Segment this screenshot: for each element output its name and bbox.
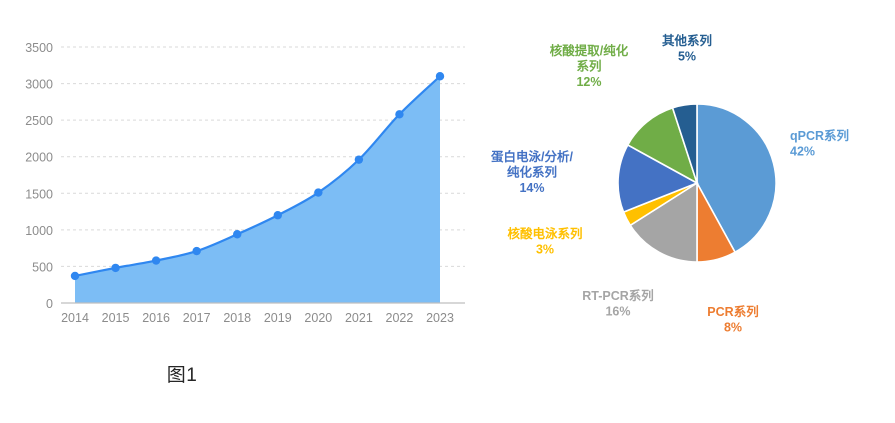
line-chart-y-axis-labels: 0500100015002000250030003500 — [25, 41, 53, 311]
pie-slice-label: 纯化系列 — [507, 165, 557, 180]
x-tick-label: 2020 — [304, 311, 332, 325]
data-point — [192, 247, 200, 255]
line-chart-plot-area: 0500100015002000250030003500 20142015201… — [0, 0, 480, 345]
pie-slice-label: 核酸电泳系列 — [507, 226, 582, 241]
pie-slice-label: PCR系列 — [707, 304, 758, 319]
y-tick-label: 500 — [32, 260, 53, 274]
x-tick-label: 2015 — [102, 311, 130, 325]
line-chart-figure: 0500100015002000250030003500 20142015201… — [0, 0, 480, 423]
pie-slice-label: 其他系列 — [662, 33, 712, 48]
data-point — [355, 155, 363, 163]
x-tick-label: 2018 — [223, 311, 251, 325]
area-fill — [75, 76, 440, 303]
pie-slice-label: 5% — [678, 50, 696, 64]
pie-slice-label: 42% — [790, 145, 815, 159]
y-tick-label: 0 — [46, 297, 53, 311]
pie-slice-label: 3% — [536, 243, 554, 257]
y-tick-label: 1000 — [25, 224, 53, 238]
line-chart-area-fill — [75, 76, 440, 303]
x-tick-label: 2022 — [386, 311, 414, 325]
data-point — [152, 256, 160, 264]
x-tick-label: 2019 — [264, 311, 292, 325]
pie-slice-label: RT-PCR系列 — [582, 288, 654, 303]
figure-2-caption: 图2 — [725, 360, 895, 387]
pie-chart-figure: qPCR系列42%PCR系列8%RT-PCR系列16%核酸电泳系列3%蛋白电泳/… — [470, 0, 895, 423]
pie-slice-label: 8% — [724, 321, 742, 335]
x-tick-label: 2017 — [183, 311, 211, 325]
pie-slice-label: 14% — [519, 181, 544, 195]
line-chart-x-axis-labels: 2014201520162017201820192020202120222023 — [61, 311, 454, 325]
y-tick-label: 1500 — [25, 187, 53, 201]
y-tick-label: 3500 — [25, 41, 53, 55]
data-point — [71, 272, 79, 280]
pie-slice-label: 16% — [605, 305, 630, 319]
pie-chart-slices — [618, 104, 776, 262]
data-point — [233, 230, 241, 238]
x-tick-label: 2021 — [345, 311, 373, 325]
y-tick-label: 3000 — [25, 78, 53, 92]
x-tick-label: 2016 — [142, 311, 170, 325]
y-tick-label: 2500 — [25, 114, 53, 128]
y-tick-label: 2000 — [25, 151, 53, 165]
data-point — [314, 188, 322, 196]
line-chart-svg: 0500100015002000250030003500 20142015201… — [0, 0, 480, 345]
x-tick-label: 2014 — [61, 311, 89, 325]
pie-slice-label: 蛋白电泳/分析/ — [491, 149, 573, 164]
data-point — [111, 264, 119, 272]
x-tick-label: 2023 — [426, 311, 454, 325]
figure-panel: 0500100015002000250030003500 20142015201… — [0, 0, 895, 423]
figure-1-caption: 图1 — [0, 360, 422, 387]
pie-slice-label: 12% — [576, 75, 601, 89]
pie-slice-label: qPCR系列 — [790, 128, 849, 143]
data-point — [395, 110, 403, 118]
data-point — [436, 72, 444, 80]
pie-slice-label: 系列 — [576, 59, 601, 74]
data-point — [274, 211, 282, 219]
pie-slice-label: 核酸提取/纯化 — [550, 43, 629, 58]
pie-chart-svg: qPCR系列42%PCR系列8%RT-PCR系列16%核酸电泳系列3%蛋白电泳/… — [470, 0, 895, 345]
